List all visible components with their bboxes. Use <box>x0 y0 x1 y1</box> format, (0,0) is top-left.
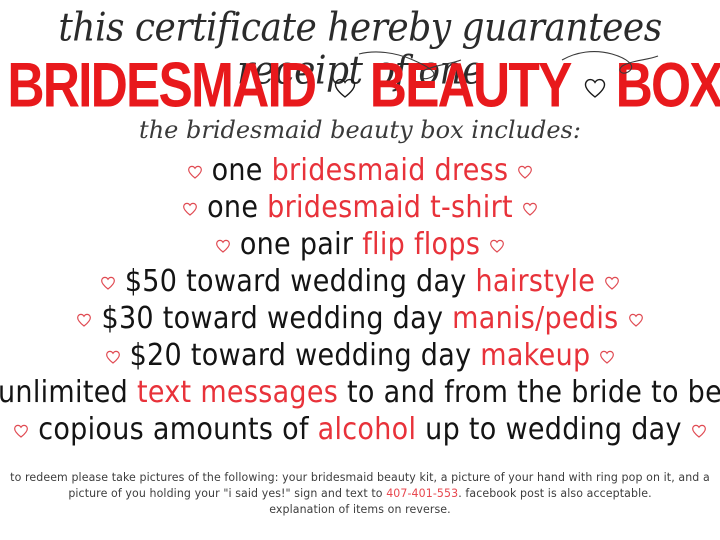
heart-icon-right <box>489 238 505 254</box>
list-item: unlimited text messages to and from the … <box>0 374 720 411</box>
item-prefix: unlimited <box>0 375 137 410</box>
fineprint-line-two-after: . facebook post is also acceptable. <box>458 487 651 501</box>
fineprint-block: to redeem please take pictures of the fo… <box>0 470 720 518</box>
list-item: one bridesmaid dress <box>0 152 720 189</box>
heart-icon-right <box>604 275 620 291</box>
list-item: $30 toward wedding day manis/pedis <box>0 300 720 337</box>
list-item-text: copious amounts of alcohol up to wedding… <box>38 414 682 444</box>
heart-icon-right <box>517 164 533 180</box>
fineprint-line-two: picture of you holding your "i said yes!… <box>0 486 720 503</box>
list-item-text: one bridesmaid t-shirt <box>207 192 513 222</box>
item-highlight: alcohol <box>318 412 417 447</box>
list-item-text: $20 toward wedding day makeup <box>130 340 591 370</box>
title-word-beauty: BEAUTY <box>369 54 570 117</box>
list-item-text: $30 toward wedding day manis/pedis <box>101 303 618 333</box>
item-prefix: $20 toward wedding day <box>130 338 481 373</box>
included-items-list: one bridesmaid dress one bridesmaid t-sh… <box>0 152 720 448</box>
item-prefix: one <box>212 153 272 188</box>
bridesmaid-beauty-box-certificate: this certificate hereby guarantees recei… <box>0 0 720 540</box>
fineprint-line-three: explanation of items on reverse. <box>0 502 720 519</box>
heart-icon-left <box>105 349 121 365</box>
heart-icon-left <box>13 423 29 439</box>
list-item: $50 toward wedding day hairstyle <box>0 263 720 300</box>
item-highlight: bridesmaid dress <box>272 153 509 188</box>
contact-phone-number: 407-401-553 <box>386 487 458 501</box>
item-highlight: hairstyle <box>475 264 595 299</box>
item-highlight: makeup <box>480 338 590 373</box>
item-highlight: manis/pedis <box>452 301 618 336</box>
list-item: one pair flip flops <box>0 226 720 263</box>
item-highlight: flip flops <box>362 227 480 262</box>
certificate-title: BRIDESMAID BEAUTY BOX <box>0 58 720 112</box>
heart-icon-left <box>76 312 92 328</box>
list-item: one bridesmaid t-shirt <box>0 189 720 226</box>
item-prefix: copious amounts of <box>38 412 317 447</box>
fineprint-line-two-before: picture of you holding your "i said yes!… <box>68 487 386 501</box>
item-suffix: to and from the bride to be <box>338 375 720 410</box>
list-item-text: unlimited text messages to and from the … <box>0 377 720 407</box>
heart-icon-right <box>522 201 538 217</box>
heart-icon-left <box>215 238 231 254</box>
item-prefix: $30 toward wedding day <box>101 301 452 336</box>
item-highlight: text messages <box>137 375 338 410</box>
list-item-text: one pair flip flops <box>240 229 480 259</box>
heart-icon-right <box>599 349 615 365</box>
heart-icon-left <box>182 201 198 217</box>
heart-icon-right <box>628 312 644 328</box>
title-heart-icon-two <box>583 76 607 100</box>
item-prefix: $50 toward wedding day <box>125 264 476 299</box>
title-word-box: BOX <box>615 54 720 117</box>
item-suffix: up to wedding day <box>416 412 681 447</box>
list-item: copious amounts of alcohol up to wedding… <box>0 411 720 448</box>
title-word-bridesmaid: BRIDESMAID <box>7 54 315 117</box>
list-item: $20 toward wedding day makeup <box>0 337 720 374</box>
subtitle-script-line: the bridesmaid beauty box includes: <box>0 116 720 144</box>
item-highlight: bridesmaid t-shirt <box>267 190 513 225</box>
item-prefix: one pair <box>240 227 362 262</box>
item-prefix: one <box>207 190 267 225</box>
title-heart-icon-one <box>333 76 357 100</box>
heart-icon-left <box>100 275 116 291</box>
fineprint-line-one: to redeem please take pictures of the fo… <box>0 470 720 487</box>
heart-icon-left <box>187 164 203 180</box>
list-item-text: one bridesmaid dress <box>212 155 509 185</box>
list-item-text: $50 toward wedding day hairstyle <box>125 266 595 296</box>
heart-icon-right <box>691 423 707 439</box>
